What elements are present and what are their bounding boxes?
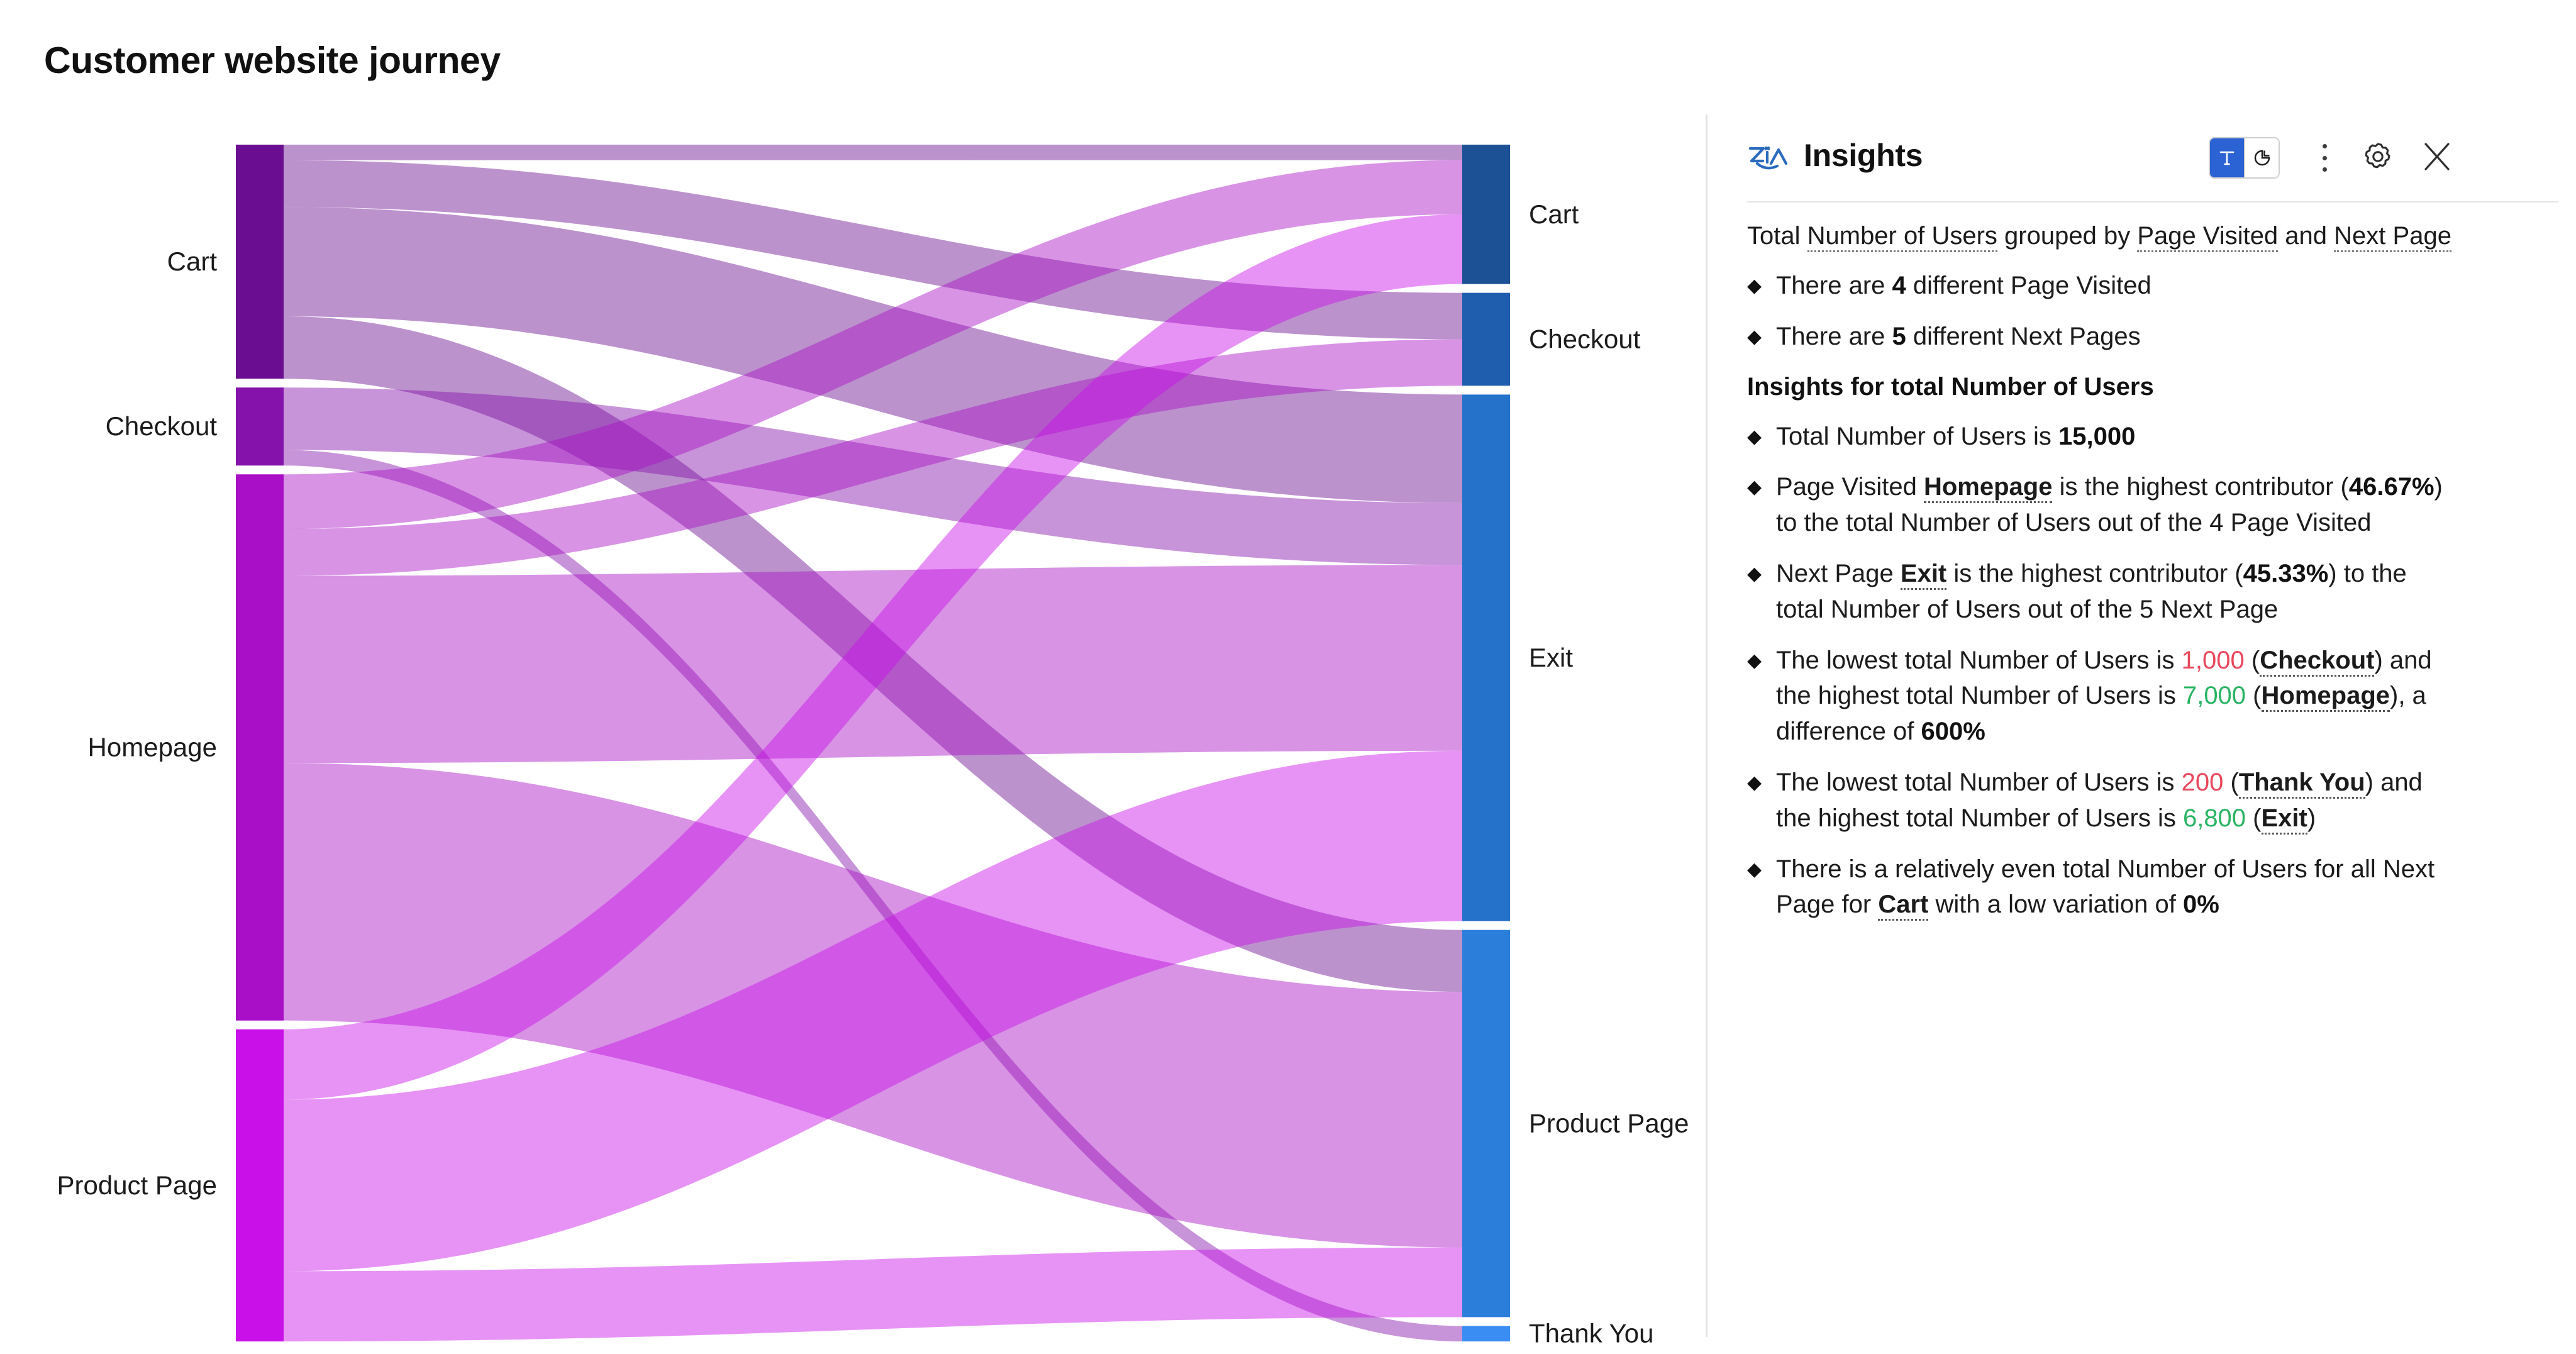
list-item: ◆ Next Page Exit is the highest contribu…	[1747, 556, 2565, 628]
bullet-diamond-icon: ◆	[1747, 643, 1776, 674]
dimension-link[interactable]: Thank You	[2239, 769, 2365, 799]
value: 15,000	[2058, 423, 2135, 450]
value: 46.67%	[2349, 473, 2434, 501]
low-value: 1,000	[2182, 646, 2245, 674]
gear-icon	[2357, 136, 2399, 177]
dimension-link[interactable]: Checkout	[2260, 646, 2374, 677]
sankey-svg[interactable]: CartCheckoutHomepageProduct PageCartChec…	[0, 113, 1698, 1354]
list-item: ◆ There are 5 different Next Pages	[1747, 319, 2565, 355]
t: There are	[1776, 272, 1892, 299]
value: 0%	[2183, 891, 2219, 918]
bullet-low-high-page-visited: The lowest total Number of Users is 1,00…	[1776, 643, 2459, 750]
sankey-node-label: Product Page	[57, 1170, 217, 1200]
sankey-node[interactable]	[236, 1029, 284, 1341]
bullet-diamond-icon: ◆	[1747, 319, 1776, 350]
sankey-node[interactable]	[236, 474, 284, 1020]
list-item: ◆ Page Visited Homepage is the highest c…	[1747, 469, 2565, 541]
lead-measure[interactable]: Number of Users	[1807, 222, 1997, 252]
pie-chart-icon	[2251, 147, 2273, 169]
bullet-low-high-next-page: The lowest total Number of Users is 200 …	[1776, 765, 2459, 836]
sankey-node-label: Thank You	[1529, 1319, 1654, 1348]
insights-body: Total Number of Users grouped by Page Vi…	[1747, 219, 2565, 923]
bullet-diamond-icon: ◆	[1747, 852, 1776, 883]
sankey-link[interactable]	[284, 1248, 1462, 1341]
t: The lowest total Number of Users is	[1776, 769, 2182, 796]
bullet-even-variation: There is a relatively even total Number …	[1776, 852, 2459, 923]
list-item: ◆ Total Number of Users is 15,000	[1747, 419, 2565, 455]
insights-header: Insights	[1747, 128, 2558, 194]
zia-logo	[1747, 143, 1789, 176]
sankey-link[interactable]	[284, 145, 1462, 160]
bullet-highest-next-page: Next Page Exit is the highest contributo…	[1776, 556, 2459, 628]
dimension-link[interactable]: Homepage	[1924, 473, 2053, 503]
sankey-node-label: Checkout	[1529, 325, 1641, 354]
t: Next Page	[1776, 560, 1901, 587]
sankey-node-label: Cart	[1529, 199, 1579, 229]
sankey-node[interactable]	[1462, 145, 1510, 284]
bullet-diamond-icon: ◆	[1747, 765, 1776, 796]
kebab-dot	[2323, 167, 2327, 172]
toggle-text-view[interactable]	[2210, 138, 2244, 177]
lead-dimension-2[interactable]: Next Page	[2334, 222, 2451, 252]
kebab-dot	[2323, 156, 2327, 160]
lead-and: and	[2278, 222, 2334, 250]
list-item: ◆ There are 4 different Page Visited	[1747, 268, 2565, 304]
sankey-node[interactable]	[236, 387, 284, 465]
close-button[interactable]	[2418, 137, 2457, 176]
bullet-diamond-icon: ◆	[1747, 556, 1776, 587]
bullet-text: There are 5 different Next Pages	[1776, 319, 2459, 355]
app-root: Customer website journey CartCheckoutHom…	[0, 0, 2576, 1354]
dimension-link[interactable]: Cart	[1878, 891, 1928, 921]
sankey-node-label: Cart	[167, 247, 218, 276]
sankey-node-label: Homepage	[88, 733, 217, 762]
bullet-text: There are 4 different Page Visited	[1776, 268, 2459, 304]
bullet-diamond-icon: ◆	[1747, 268, 1776, 299]
lead-prefix: Total	[1747, 222, 1807, 250]
section-heading: Insights for total Number of Users	[1747, 370, 2565, 404]
view-mode-toggle[interactable]	[2209, 137, 2280, 179]
low-value: 200	[2182, 769, 2224, 796]
high-value: 7,000	[2183, 682, 2246, 709]
page-title: Customer website journey	[44, 39, 501, 82]
bullet-diamond-icon: ◆	[1747, 469, 1776, 501]
toggle-chart-view[interactable]	[2244, 138, 2279, 177]
dimension-link[interactable]: Homepage	[2262, 682, 2390, 712]
list-item: ◆ The lowest total Number of Users is 20…	[1747, 765, 2565, 836]
lead-dimension-1[interactable]: Page Visited	[2137, 222, 2278, 252]
dimension-link[interactable]: Exit	[2262, 804, 2307, 835]
settings-button[interactable]	[2357, 136, 2399, 177]
sankey-node[interactable]	[1462, 394, 1510, 921]
t: Page Visited	[1776, 473, 1924, 501]
value: 600%	[1921, 718, 1985, 745]
value: 5	[1892, 323, 1906, 350]
sankey-node-label: Product Page	[1529, 1109, 1689, 1138]
more-options-button[interactable]	[2311, 140, 2338, 176]
sankey-chart[interactable]: CartCheckoutHomepageProduct PageCartChec…	[0, 113, 1698, 1354]
t: is the highest contributor (	[2052, 473, 2348, 501]
dimension-link[interactable]: Exit	[1901, 560, 1946, 590]
sankey-node[interactable]	[1462, 1326, 1510, 1341]
lead-mid: grouped by	[1997, 222, 2137, 250]
kebab-dot	[2323, 144, 2327, 148]
insight-lead: Total Number of Users grouped by Page Vi…	[1747, 219, 2565, 253]
text-view-icon	[2216, 147, 2238, 169]
value: 4	[1892, 272, 1906, 299]
t: different Next Pages	[1906, 323, 2141, 350]
sankey-node-label: Checkout	[106, 411, 218, 441]
bullet-highest-page-visited: Page Visited Homepage is the highest con…	[1776, 469, 2459, 541]
high-value: 6,800	[2183, 804, 2246, 832]
list-item: ◆ There is a relatively even total Numbe…	[1747, 852, 2565, 923]
bullet-total-users: Total Number of Users is 15,000	[1776, 419, 2459, 455]
insights-panel: Insights	[1707, 113, 2576, 1354]
insights-title: Insights	[1804, 137, 1923, 174]
sankey-node[interactable]	[1462, 930, 1510, 1318]
t: is the highest contributor (	[1946, 560, 2243, 587]
header-divider	[1747, 201, 2558, 203]
t: different Page Visited	[1906, 272, 2151, 299]
sankey-node-label: Exit	[1529, 643, 1573, 672]
list-item: ◆ The lowest total Number of Users is 1,…	[1747, 643, 2565, 750]
close-icon	[2418, 137, 2457, 176]
t: Total Number of Users is	[1776, 423, 2058, 450]
t: with a low variation of	[1928, 891, 2183, 918]
value: 45.33%	[2243, 560, 2329, 587]
bullet-diamond-icon: ◆	[1747, 419, 1776, 450]
t: The lowest total Number of Users is	[1776, 646, 2182, 674]
sankey-node[interactable]	[1462, 293, 1510, 386]
t: There are	[1776, 323, 1892, 350]
sankey-node[interactable]	[236, 145, 284, 379]
